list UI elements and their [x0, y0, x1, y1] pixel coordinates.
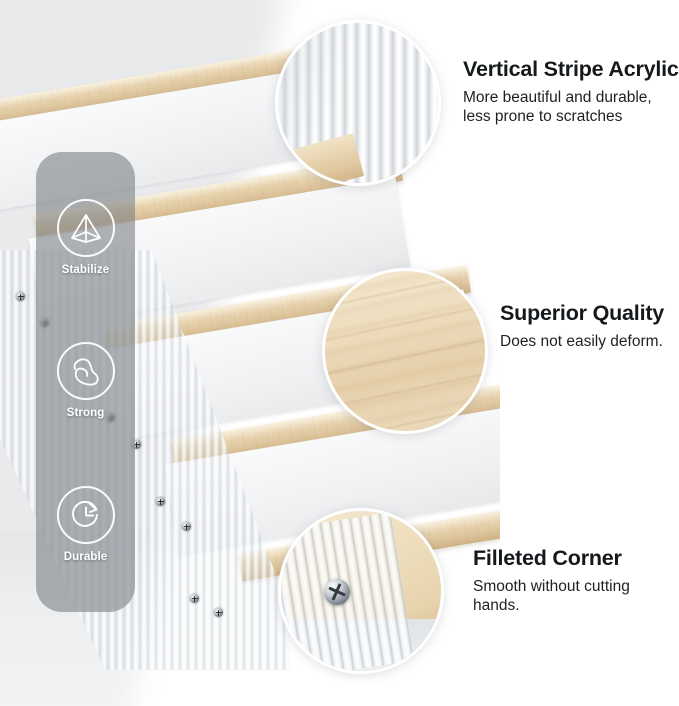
badge-ring	[57, 342, 115, 400]
screw-icon	[324, 579, 350, 605]
callout-subtitle: More beautiful and durable, less prone t…	[463, 89, 679, 127]
badge-ring	[57, 199, 115, 257]
callout-zoom-circle-superior-quality	[322, 268, 488, 434]
wood-edge-detail	[275, 133, 364, 186]
screw	[214, 608, 223, 617]
callout-title: Filleted Corner	[473, 546, 673, 571]
badge-durable: Durable	[57, 486, 115, 563]
clock-arrow-icon	[69, 498, 103, 532]
bicep-icon	[69, 355, 103, 387]
screw	[182, 522, 191, 531]
callout-subtitle-line2: less prone to scratches	[463, 108, 622, 125]
callout-zoom-circle-vertical-stripe-acrylic	[275, 20, 441, 186]
feature-badge-panel: Stabilize Strong	[36, 152, 135, 612]
badge-label: Stabilize	[62, 264, 110, 276]
callout-subtitle-line1: Smooth without cutting	[473, 578, 630, 595]
callout-zoom-circle-filleted-corner	[278, 508, 444, 674]
filleted-corner-macro	[281, 511, 441, 671]
callout-title: Vertical Stripe Acrylic	[463, 57, 679, 82]
callout-title: Superior Quality	[500, 301, 679, 326]
badge-label: Durable	[64, 551, 108, 563]
callout-text-filleted-corner: Filleted Corner Smooth without cutting h…	[473, 546, 673, 616]
callout-subtitle-line1: More beautiful and durable,	[463, 89, 652, 106]
badge-label: Strong	[67, 407, 105, 419]
callout-subtitle: Does not easily deform.	[500, 333, 679, 352]
callout-text-vertical-stripe-acrylic: Vertical Stripe Acrylic More beautiful a…	[463, 57, 679, 127]
wood-grain-macro	[325, 271, 485, 431]
product-feature-infographic: Stabilize Strong	[0, 0, 679, 706]
badge-ring	[57, 486, 115, 544]
callout-text-superior-quality: Superior Quality Does not easily deform.	[500, 301, 679, 352]
screw	[156, 497, 165, 506]
callout-subtitle-line2: hands.	[473, 597, 520, 614]
screw	[190, 594, 199, 603]
callout-subtitle: Smooth without cutting hands.	[473, 578, 673, 616]
pyramid-icon	[69, 212, 103, 244]
callout-subtitle-line1: Does not easily deform.	[500, 333, 663, 350]
acrylic-stripe-macro	[278, 23, 438, 183]
screw	[16, 292, 25, 301]
badge-strong: Strong	[57, 342, 115, 419]
badge-stabilize: Stabilize	[57, 199, 115, 276]
